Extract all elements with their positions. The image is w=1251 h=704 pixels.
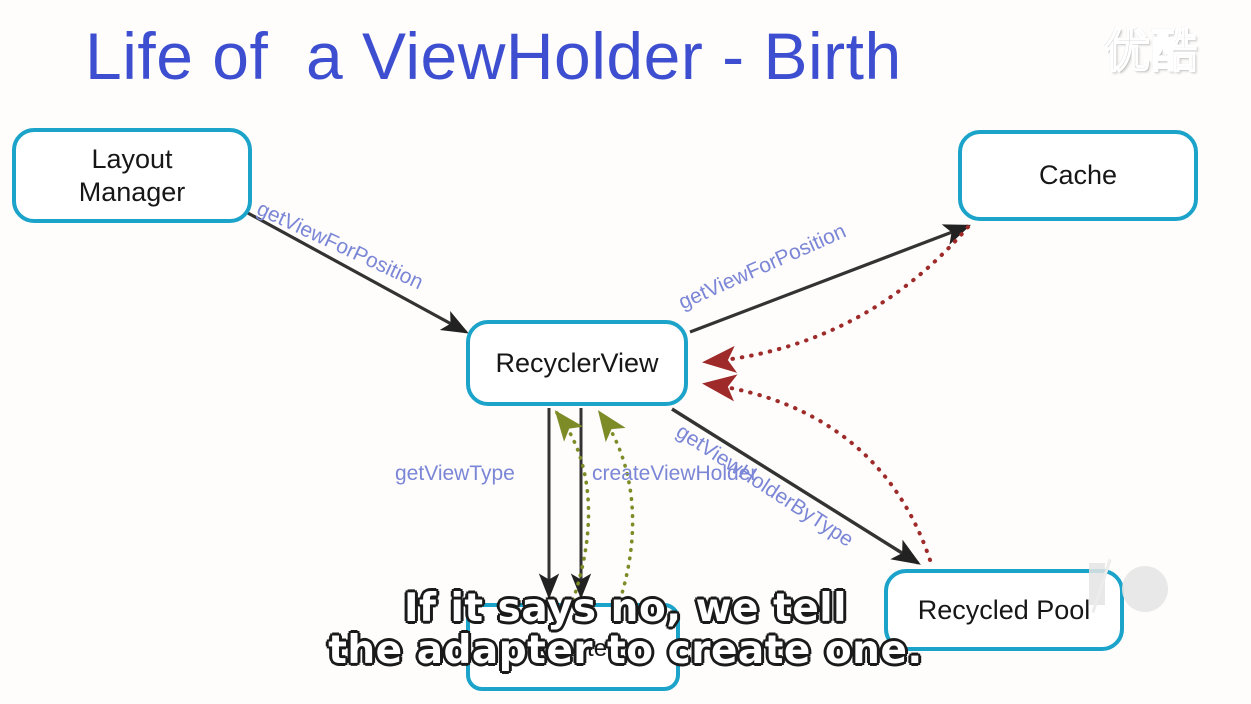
- subtitle-caption: If it says no, we tell the adapter to cr…: [0, 588, 1251, 672]
- edge-label-get-view-for-position-cache: getViewForPosition: [675, 220, 850, 315]
- edge-adapter-to-recyclerview-return-1: [557, 413, 589, 600]
- edge-label-get-view-type: getViewType: [395, 462, 515, 486]
- node-cache[interactable]: Cache: [958, 130, 1198, 221]
- page-title: Life of a ViewHolder - Birth: [85, 22, 902, 91]
- edge-label-create-view-holder: createViewHolder: [592, 462, 757, 486]
- edge-cache-to-recyclerview-return: [706, 227, 968, 362]
- edge-adapter-to-recyclerview-return-2: [600, 413, 633, 600]
- slide-canvas: Life of a ViewHolder - Birth 优酷: [0, 0, 1251, 704]
- youku-logo-watermark: 优酷: [1104, 28, 1198, 74]
- edge-label-get-view-for-position-layout-manager: getViewForPosition: [253, 197, 427, 295]
- edge-recyclerview-to-recycled-pool: [672, 409, 918, 563]
- node-recyclerview[interactable]: RecyclerView: [466, 320, 688, 406]
- edge-label-get-view-holder-by-type: getViewHolderByType: [671, 420, 857, 552]
- node-layout-manager[interactable]: Layout Manager: [12, 128, 252, 223]
